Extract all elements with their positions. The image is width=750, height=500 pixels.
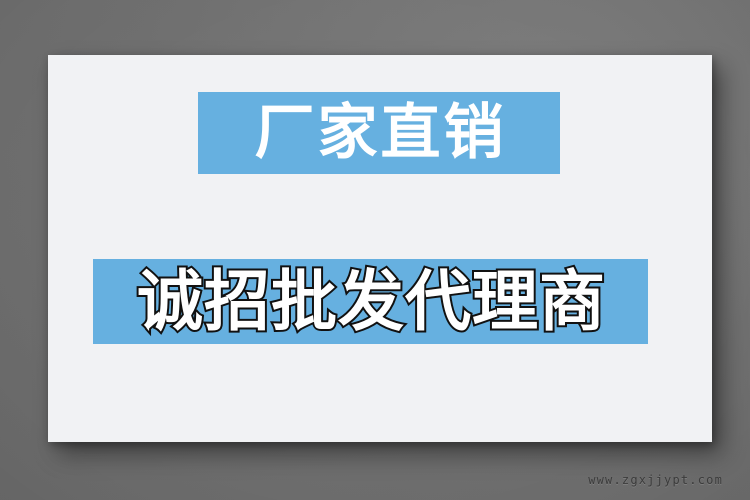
poster-card: 厂家直销 诚招批发代理商 bbox=[48, 55, 712, 442]
headline-text-primary: 厂家直销 bbox=[252, 103, 507, 163]
headline-banner-primary: 厂家直销 bbox=[198, 92, 560, 174]
headline-banner-secondary: 诚招批发代理商 bbox=[93, 259, 648, 344]
watermark-url: www.zgxjjypt.com bbox=[588, 473, 723, 487]
headline-text-secondary: 诚招批发代理商 bbox=[135, 269, 606, 335]
promo-poster: 厂家直销 诚招批发代理商 www.zgxjjypt.com bbox=[0, 0, 750, 500]
